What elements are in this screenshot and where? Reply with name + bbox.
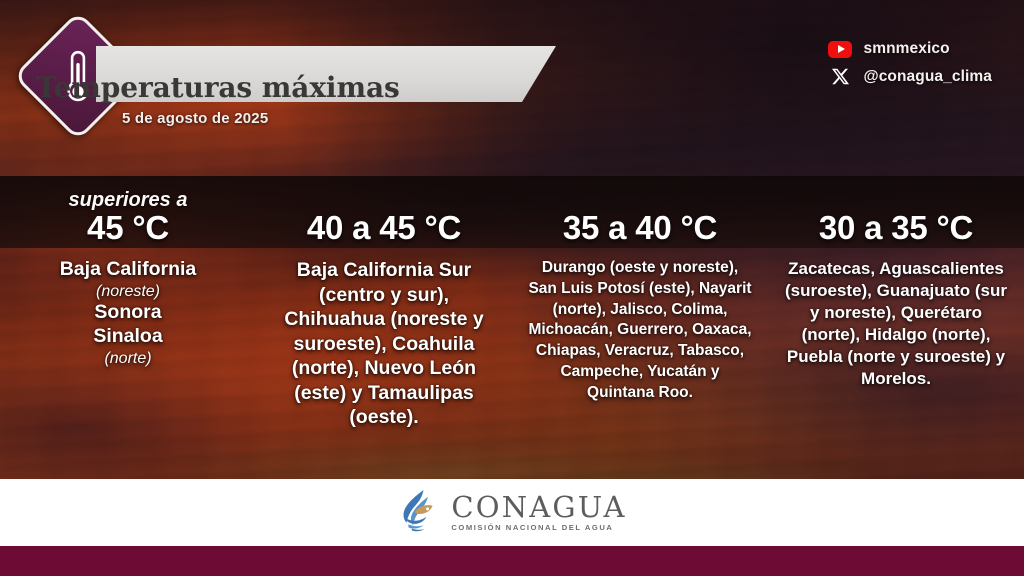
state-entry-2: Sonora xyxy=(14,301,242,325)
state-list-4: Zacatecas, Aguascalientes (suroeste), Gu… xyxy=(782,258,1010,391)
range-header-1: superiores a 45 °C xyxy=(0,176,256,248)
logo-subtitle: COMISIÓN NACIONAL DEL AGUA xyxy=(451,524,626,532)
forecast-date: 5 de agosto de 2025 xyxy=(122,110,268,127)
youtube-handle: smnmexico xyxy=(863,40,949,58)
state-column-2: Baja California Sur (centro y sur), Chih… xyxy=(256,248,512,479)
range-label-4: 30 a 35 °C xyxy=(819,210,973,246)
range-header-2: 40 a 45 °C xyxy=(256,176,512,248)
x-twitter-icon xyxy=(828,67,852,86)
footer-accent-bar xyxy=(0,546,1024,576)
state-column-3: Durango (oeste y noreste), San Luis Poto… xyxy=(512,248,768,479)
range-header-3: 35 a 40 °C xyxy=(512,176,768,248)
temperature-forecast-poster: Temperaturas máximas 5 de agosto de 2025… xyxy=(0,0,1024,576)
range-label-1: 45 °C xyxy=(87,210,169,246)
state-column-1: Baja California (noreste) Sonora Sinaloa… xyxy=(0,248,256,479)
footer: CONAGUA COMISIÓN NACIONAL DEL AGUA xyxy=(0,479,1024,546)
state-column-4: Zacatecas, Aguascalientes (suroeste), Gu… xyxy=(768,248,1024,479)
range-label-2: 40 a 45 °C xyxy=(307,210,461,246)
social-handles: smnmexico @conagua_clima xyxy=(828,40,992,86)
state-entry-3: Sinaloa xyxy=(14,325,242,349)
range-label-3: 35 a 40 °C xyxy=(563,210,717,246)
header: Temperaturas máximas 5 de agosto de 2025… xyxy=(0,0,1024,176)
state-list-2: Baja California Sur (centro y sur), Chih… xyxy=(270,258,498,430)
state-entry-1: Baja California xyxy=(14,258,242,282)
social-row-youtube[interactable]: smnmexico xyxy=(828,40,949,58)
state-region-1: (noreste) xyxy=(14,282,242,302)
logo-wordmark: CONAGUA xyxy=(451,493,626,522)
state-list-3: Durango (oeste y noreste), San Luis Poto… xyxy=(526,258,754,403)
page-title: Temperaturas máximas xyxy=(36,71,400,104)
range-header-4: 30 a 35 °C xyxy=(768,176,1024,248)
conagua-eagle-water-icon xyxy=(397,487,441,538)
temperature-ranges-header: superiores a 45 °C 40 a 45 °C 35 a 40 °C… xyxy=(0,176,1024,248)
conagua-logo: CONAGUA COMISIÓN NACIONAL DEL AGUA xyxy=(397,487,626,538)
range-prefix-1: superiores a xyxy=(69,190,188,210)
state-region-3: (norte) xyxy=(14,349,242,369)
social-row-x[interactable]: @conagua_clima xyxy=(828,67,992,86)
x-handle: @conagua_clima xyxy=(863,68,992,86)
youtube-icon xyxy=(828,41,852,58)
state-columns: Baja California (noreste) Sonora Sinaloa… xyxy=(0,248,1024,479)
